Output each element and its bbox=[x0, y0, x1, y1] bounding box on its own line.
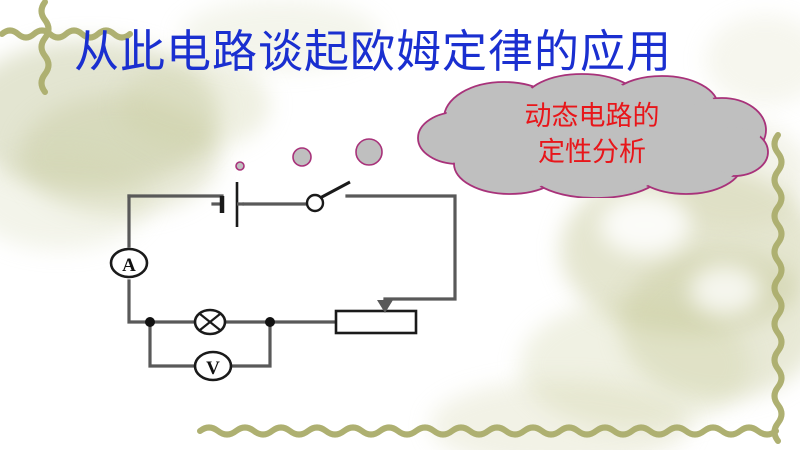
ammeter-label: A bbox=[122, 255, 136, 276]
junction-dot bbox=[145, 317, 155, 327]
ammeter-symbol: A bbox=[111, 249, 147, 277]
slide-canvas: 从此电路谈起欧姆定律的应用 bbox=[0, 0, 800, 450]
voltmeter-symbol: V bbox=[195, 352, 231, 380]
circuit-wires bbox=[129, 196, 455, 366]
circuit-diagram: A V bbox=[0, 0, 800, 450]
junction-dot bbox=[265, 317, 275, 327]
rheostat-symbol[interactable] bbox=[336, 299, 416, 333]
lamp-symbol bbox=[195, 310, 225, 334]
voltmeter-label: V bbox=[206, 358, 220, 379]
battery-symbol bbox=[222, 182, 244, 227]
switch-symbol[interactable] bbox=[307, 182, 350, 211]
